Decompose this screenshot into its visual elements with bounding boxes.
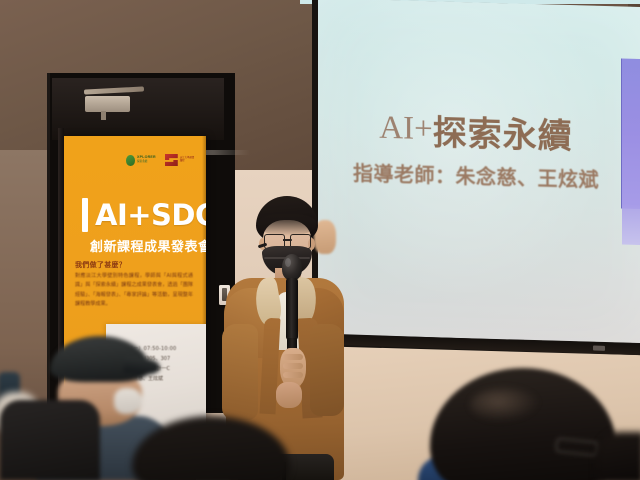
school-logo-icon: 淡江大學通識課程 <box>165 154 196 166</box>
explorer-logo-line2: 探索永續 <box>137 161 156 164</box>
audience-cap-button <box>94 338 101 344</box>
banner-title-block: AI+SDGs <box>82 198 206 232</box>
jacket-sleeve-right <box>310 324 344 416</box>
jacket-sleeve-left <box>222 324 258 420</box>
banner-logo-row: XPLORER 探索永續 淡江大學通識課程 <box>126 150 198 170</box>
school-logo-line1: 淡江大學通識課程 <box>180 157 196 162</box>
leaf-icon <box>126 155 135 166</box>
foreground-blur-right <box>596 432 640 480</box>
speaker-hand-lower <box>276 382 302 408</box>
slide-title-latin: AI+ <box>379 110 432 147</box>
school-mark-icon <box>165 154 178 166</box>
slide-subtitle: 指導老師：朱念慈、王炫斌 <box>322 156 630 194</box>
banner-section-heading: 我們做了甚麼？ <box>75 260 126 270</box>
banner-title: AI+SDGs <box>95 201 206 230</box>
screen-rail-knob <box>593 346 605 351</box>
door-closer-pin <box>101 111 106 120</box>
audience-cap-mask <box>114 388 142 414</box>
banner-body-text: 對應淡江大學壁別特色課程，學師與「AI與程式通識」與「探索永續」課程之成果發表會… <box>75 272 193 310</box>
microphone-head <box>282 254 302 280</box>
slide-title-cjk: 探索永續 <box>433 113 573 157</box>
projection-screen: AI+探索永續 指導老師：朱念慈、王炫斌 <box>318 0 640 343</box>
speaker-hair-fringe <box>258 214 316 236</box>
explorer-logo-icon: XPLORER 探索永續 <box>126 155 156 166</box>
door-closer-body <box>85 96 130 112</box>
microphone-body <box>286 278 298 340</box>
slide-content: AI+探索永續 指導老師：朱念慈、王炫斌 <box>318 0 640 343</box>
presentation-photo: AI+探索永續 指導老師：朱念慈、王炫斌 XPLORER 探索永續 淡江大學 <box>0 0 640 480</box>
audience-right-hair-highlight <box>470 388 540 422</box>
slide-title: AI+探索永續 <box>326 102 626 159</box>
banner-title-accent-bar <box>82 198 88 232</box>
banner-subtitle: 創新課程成果發表會 <box>90 236 206 255</box>
chair-back-left <box>0 400 100 480</box>
